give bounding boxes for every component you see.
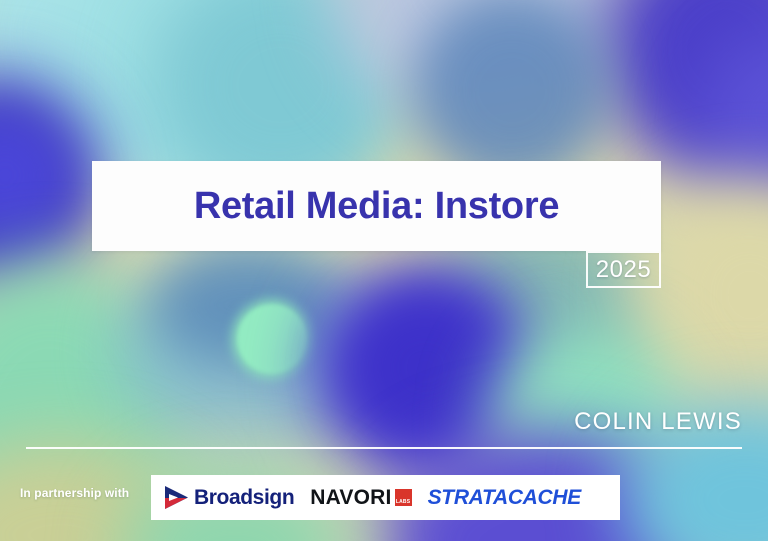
bubble-mint-small-core (238, 305, 306, 373)
partner-logo-bar: Broadsign NAVORI LABS STRATACACHE (151, 475, 620, 520)
navori-labs-text: LABS (396, 499, 410, 505)
navori-wordmark: NAVORI (310, 486, 391, 510)
page-title: Retail Media: Instore (194, 185, 559, 228)
title-slide: Retail Media: Instore 2025 COLIN LEWIS I… (0, 0, 768, 541)
play-triangle-icon (165, 486, 188, 509)
logo-broadsign[interactable]: Broadsign (165, 475, 294, 520)
bubble-indigo-center-core (345, 290, 505, 445)
divider-rule (26, 447, 742, 449)
broadsign-wordmark: Broadsign (194, 486, 294, 510)
year-badge: 2025 (586, 251, 661, 288)
logo-navori[interactable]: NAVORI LABS (310, 475, 411, 520)
logo-stratacache[interactable]: STRATACACHE (428, 475, 581, 520)
year-label: 2025 (596, 256, 651, 284)
title-panel: Retail Media: Instore (92, 161, 661, 251)
navori-labs-badge: LABS (395, 489, 412, 506)
partnership-label: In partnership with (20, 486, 129, 500)
stratacache-wordmark: STRATACACHE (428, 486, 581, 510)
author-name: COLIN LEWIS (574, 408, 742, 436)
